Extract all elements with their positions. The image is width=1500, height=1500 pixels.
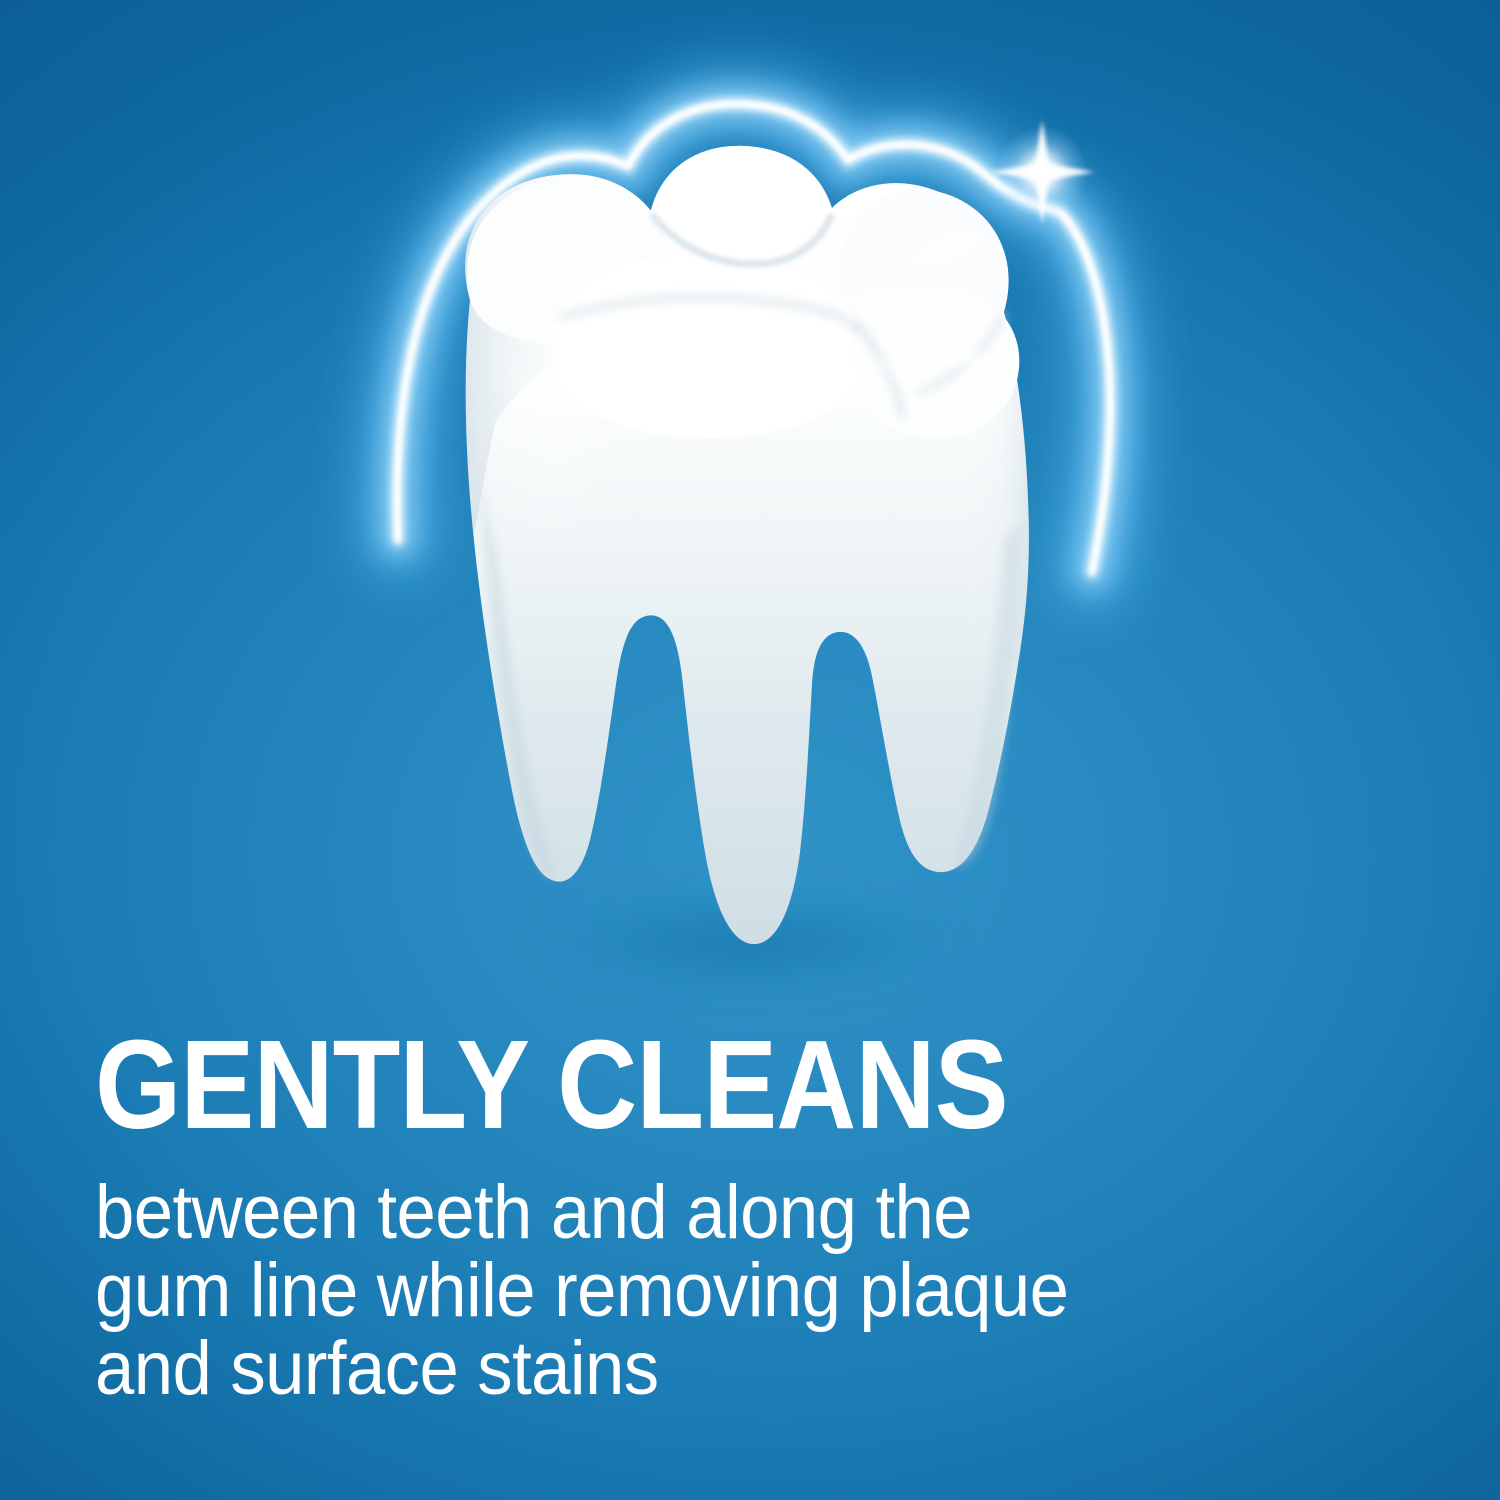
hero-illustration (0, 0, 1500, 1020)
ad-creative-canvas: GENTLY CLEANS between teeth and along th… (0, 0, 1500, 1500)
page-title: GENTLY CLEANS (95, 1022, 1257, 1148)
body-line-3: and surface stains (95, 1330, 1258, 1408)
body-line-2: gum line while removing plaque (95, 1252, 1258, 1330)
body-copy: between teeth and along the gum line whi… (95, 1148, 1258, 1408)
body-line-1: between teeth and along the (95, 1174, 1258, 1252)
copy-block: GENTLY CLEANS between teeth and along th… (95, 1022, 1415, 1408)
